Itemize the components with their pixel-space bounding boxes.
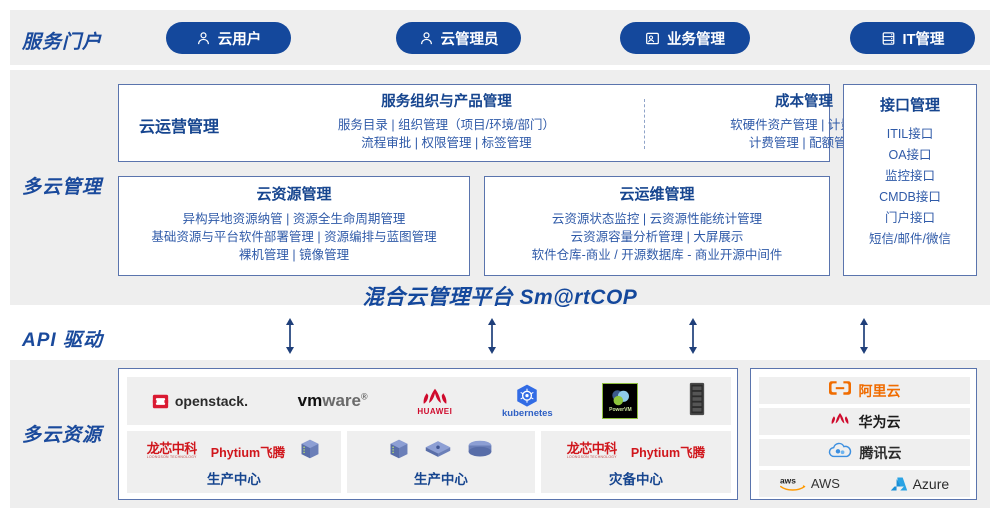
cloud-maintenance-management-card[interactable]: 云运维管理 云资源状态监控 | 云资源性能统计管理 云资源容量分析管理 | 大屏…	[484, 176, 830, 276]
portal-button-label: 业务管理	[667, 28, 725, 49]
cloud-maintenance-management-content: 云运维管理 云资源状态监控 | 云资源性能统计管理 云资源容量分析管理 | 大屏…	[485, 186, 829, 264]
datacenter-name: 生产中心	[207, 468, 261, 488]
loongson-label: 龙芯中科	[567, 442, 617, 456]
loongson-sublabel: LOONGSON TECHNOLOGY	[147, 456, 197, 460]
bidirectional-arrow-icon	[485, 318, 499, 354]
public-cloud-huawei[interactable]: 华为云	[759, 408, 970, 435]
cloud-operation-title: 云运营管理	[139, 113, 219, 137]
portal-button-label: IT管理	[903, 28, 945, 49]
aliyun-icon	[829, 380, 851, 401]
block-line: 云资源容量分析管理 | 大屏展示	[485, 228, 829, 246]
block-line: 裸机管理 | 镜像管理	[119, 246, 469, 264]
row-label-service-portal: 服务门户	[22, 27, 102, 54]
business-icon	[645, 31, 660, 46]
azure-logo[interactable]: Azure	[890, 476, 950, 492]
loongson-logo: 龙芯中科 LOONGSON TECHNOLOGY	[567, 442, 617, 459]
server-icon	[299, 438, 321, 465]
datacenter-disaster-recovery[interactable]: 龙芯中科 LOONGSON TECHNOLOGY Phytium飞腾 灾备中心	[541, 431, 731, 493]
row-label-multicloud-management: 多云管理	[22, 172, 102, 199]
row-label-multicloud-resource: 多云资源	[22, 420, 102, 447]
switch-icon	[424, 438, 452, 465]
powervm-label: PowerVM	[609, 407, 632, 413]
huawei-label: HUAWEI	[417, 408, 452, 416]
aliyun-label: 阿里云	[859, 381, 901, 401]
user-icon	[196, 31, 211, 46]
powervm-logo: PowerVM	[602, 383, 638, 419]
tencent-cloud-icon	[828, 442, 852, 464]
public-cloud-aws-azure[interactable]: aws AWS Azure	[759, 470, 970, 497]
datacenter-name: 生产中心	[414, 468, 468, 488]
row-label-api-driven: API 驱动	[22, 325, 103, 352]
bidirectional-arrow-icon	[857, 318, 871, 354]
portal-button-cloud-admin[interactable]: 云管理员	[396, 22, 521, 54]
interface-item-portal[interactable]: 门户接口	[844, 208, 976, 229]
user-icon	[419, 31, 434, 46]
phytium-logo: Phytium飞腾	[631, 442, 705, 461]
aws-label: AWS	[811, 476, 840, 491]
openstack-logo: openstack.	[152, 393, 248, 410]
vertical-dashed-divider	[644, 99, 645, 149]
cloud-resource-management-content: 云资源管理 异构异地资源纳管 | 资源全生命周期管理 基础资源与平台软件部署管理…	[119, 186, 469, 264]
block-line: 软件仓库-商业 / 开源数据库 - 商业开源中间件	[485, 246, 829, 264]
svg-text:aws: aws	[780, 476, 796, 486]
kubernetes-label: kubernetes	[502, 409, 553, 419]
portal-button-label: 云管理员	[441, 28, 499, 49]
datacenter-production-1[interactable]: 龙芯中科 LOONGSON TECHNOLOGY Phytium飞腾 生产中心	[127, 431, 341, 493]
private-cloud-resource-panel[interactable]: openstack. vmvmwareware® HUAWEI	[118, 368, 738, 500]
bidirectional-arrow-icon	[283, 318, 297, 354]
architecture-diagram: 服务门户 多云管理 API 驱动 多云资源 云用户 云管理员 业务管理 IT管理…	[0, 0, 1000, 518]
interface-item-oa[interactable]: OA接口	[844, 145, 976, 166]
server-icon	[388, 438, 410, 465]
vmware-logo: vmvmwareware®	[298, 391, 368, 411]
loongson-label: 龙芯中科	[147, 442, 197, 456]
datacenter-icons	[388, 436, 494, 466]
public-cloud-tencent[interactable]: 腾讯云	[759, 439, 970, 466]
loongson-logo: 龙芯中科 LOONGSON TECHNOLOGY	[147, 442, 197, 459]
portal-button-label: 云用户	[218, 28, 262, 49]
cloud-resource-management-card[interactable]: 云资源管理 异构异地资源纳管 | 资源全生命周期管理 基础资源与平台软件部署管理…	[118, 176, 470, 276]
azure-label: Azure	[913, 476, 950, 492]
block-title: 云运维管理	[485, 186, 829, 204]
block-title: 服务组织与产品管理	[269, 93, 624, 111]
interface-item-cmdb[interactable]: CMDB接口	[844, 187, 976, 208]
portal-button-it-management[interactable]: IT管理	[850, 22, 975, 54]
huawei-logo: HUAWEI	[417, 386, 452, 416]
interface-management-content: 接口管理 ITIL接口 OA接口 监控接口 CMDB接口 门户接口 短信/邮件/…	[844, 97, 976, 250]
interface-item-itil[interactable]: ITIL接口	[844, 124, 976, 145]
block-title: 接口管理	[844, 97, 976, 115]
datacenter-logos: 龙芯中科 LOONGSON TECHNOLOGY Phytium飞腾	[567, 436, 705, 466]
block-line: 异构异地资源纳管 | 资源全生命周期管理	[119, 210, 469, 228]
interface-item-monitor[interactable]: 监控接口	[844, 166, 976, 187]
service-org-product-block: 服务组织与产品管理 服务目录 | 组织管理（项目/环境/部门） 流程审批 | 权…	[269, 93, 624, 152]
huaweicloud-label: 华为云	[859, 412, 901, 432]
portal-button-cloud-user[interactable]: 云用户	[166, 22, 291, 54]
virtualization-vendor-strip: openstack. vmvmwareware® HUAWEI	[127, 377, 731, 425]
datacenter-production-2[interactable]: 生产中心	[347, 431, 535, 493]
tencentcloud-label: 腾讯云	[860, 443, 902, 463]
server-icon	[881, 31, 896, 46]
storage-icon	[466, 438, 494, 465]
platform-title: 混合云管理平台 Sm@rtCOP	[0, 281, 1000, 311]
loongson-sublabel: LOONGSON TECHNOLOGY	[567, 456, 617, 460]
phytium-logo: Phytium飞腾	[211, 442, 285, 461]
huawei-icon	[829, 410, 851, 433]
datacenter-row: 龙芯中科 LOONGSON TECHNOLOGY Phytium飞腾 生产中心	[127, 431, 731, 493]
server-rack-icon	[688, 382, 706, 421]
public-cloud-panel[interactable]: 阿里云 华为云 腾讯云	[750, 368, 977, 500]
cloud-operation-management-card[interactable]: 云运营管理 服务组织与产品管理 服务目录 | 组织管理（项目/环境/部门） 流程…	[118, 84, 830, 162]
block-line: 基础资源与平台软件部署管理 | 资源编排与蓝图管理	[119, 228, 469, 246]
interface-item-notification[interactable]: 短信/邮件/微信	[844, 229, 976, 250]
aws-logo[interactable]: aws AWS	[780, 475, 840, 492]
block-line: 服务目录 | 组织管理（项目/环境/部门）	[269, 116, 624, 134]
block-line: 云资源状态监控 | 云资源性能统计管理	[485, 210, 829, 228]
public-cloud-aliyun[interactable]: 阿里云	[759, 377, 970, 404]
openstack-label: openstack.	[175, 393, 248, 409]
block-line: 流程审批 | 权限管理 | 标签管理	[269, 134, 624, 152]
kubernetes-logo: kubernetes	[502, 383, 553, 419]
portal-button-business-management[interactable]: 业务管理	[620, 22, 750, 54]
datacenter-name: 灾备中心	[609, 468, 663, 488]
bidirectional-arrow-icon	[686, 318, 700, 354]
interface-management-card[interactable]: 接口管理 ITIL接口 OA接口 监控接口 CMDB接口 门户接口 短信/邮件/…	[843, 84, 977, 276]
datacenter-logos: 龙芯中科 LOONGSON TECHNOLOGY Phytium飞腾	[147, 436, 321, 466]
block-title: 云资源管理	[119, 186, 469, 204]
